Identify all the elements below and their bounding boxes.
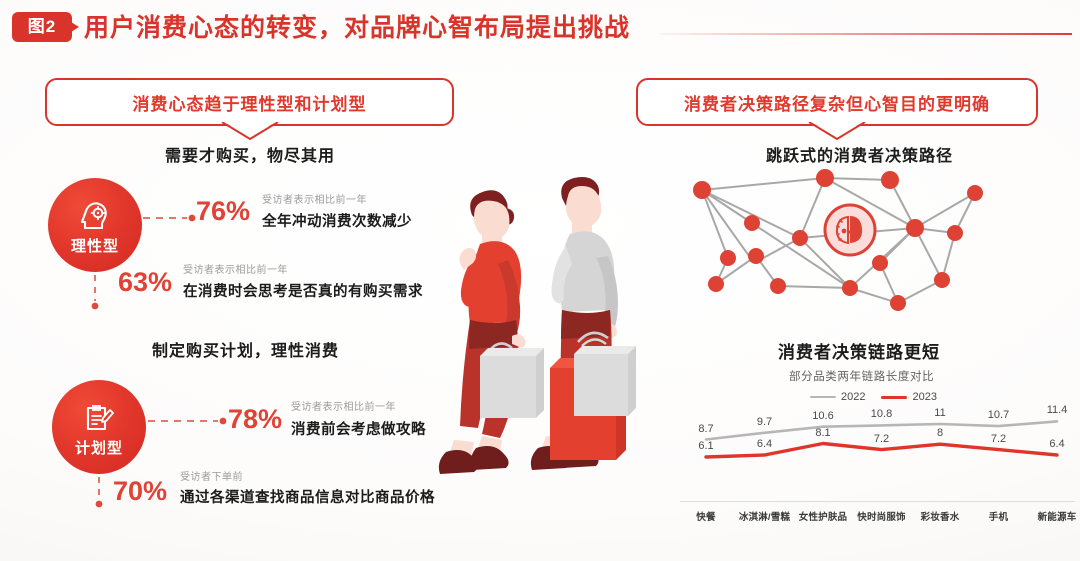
left-panel-callout: 消费心态趋于理性型和计划型 bbox=[45, 78, 454, 126]
stat-value-76: 76% bbox=[196, 198, 250, 225]
chart-axis-line bbox=[680, 501, 1075, 502]
left-panel-callout-label: 消费心态趋于理性型和计划型 bbox=[133, 90, 367, 115]
callout-notch-right bbox=[807, 122, 867, 142]
data-label-2023-0: 6.1 bbox=[698, 440, 713, 452]
chart-category-labels: 快餐冰淇淋/雪糕女性护肤品快时尚服饰彩妆香水手机新能源车 bbox=[680, 505, 1075, 527]
callout-notch bbox=[220, 122, 280, 142]
data-label-2022-1: 9.7 bbox=[757, 416, 772, 428]
connector-dashed-78 bbox=[148, 416, 232, 426]
data-label-2022-5: 10.7 bbox=[988, 409, 1009, 421]
data-label-2023-2: 8.1 bbox=[815, 427, 830, 439]
planned-type-circle: 计划型 bbox=[52, 380, 146, 474]
decision-path-network bbox=[690, 168, 1040, 313]
category-label-4: 彩妆香水 bbox=[921, 509, 960, 523]
chart-legend: 2022 2023 bbox=[810, 391, 937, 403]
planned-type-label: 计划型 bbox=[75, 441, 123, 456]
man-figure bbox=[531, 177, 636, 470]
figure-badge-label: 图2 bbox=[28, 18, 56, 36]
stat-value-78: 78% bbox=[228, 406, 282, 433]
legend-label-2022: 2022 bbox=[841, 391, 865, 403]
title-divider bbox=[660, 33, 1072, 35]
header: 图2 用户消费心态的转变，对品牌心智布局提出挑战 bbox=[0, 0, 1080, 58]
legend-swatch-2023 bbox=[881, 396, 907, 399]
data-label-2022-4: 11 bbox=[934, 407, 945, 419]
stat-caption-78: 受访者表示相比前一年 bbox=[291, 398, 396, 413]
stat-text-76: 全年冲动消费次数减少 bbox=[262, 210, 412, 231]
data-label-2022-2: 10.6 bbox=[812, 410, 833, 422]
connector-dashed-70 bbox=[94, 477, 104, 523]
head-gear-icon bbox=[75, 197, 115, 237]
page-title: 用户消费心态的转变，对品牌心智布局提出挑战 bbox=[84, 8, 630, 44]
right-panel-callout-label: 消费者决策路径复杂但心智目的更明确 bbox=[684, 90, 990, 115]
category-label-6: 新能源车 bbox=[1038, 509, 1077, 523]
stat-text-63: 在消费时会思考是否真的有购买需求 bbox=[183, 280, 423, 301]
category-label-0: 快餐 bbox=[696, 509, 715, 523]
stat-caption-63: 受访者表示相比前一年 bbox=[183, 261, 288, 276]
legend-label-2023: 2023 bbox=[912, 391, 936, 403]
data-label-2022-0: 8.7 bbox=[698, 423, 713, 435]
category-label-1: 冰淇淋/雪糕 bbox=[739, 509, 790, 523]
stat-caption-70: 受访者下单前 bbox=[180, 468, 243, 483]
legend-swatch-2022 bbox=[810, 396, 836, 398]
left-section-1-heading: 需要才购买，物尽其用 bbox=[165, 142, 335, 166]
network-heading: 跳跃式的消费者决策路径 bbox=[766, 142, 953, 166]
chart-subtitle: 部分品类两年链路长度对比 bbox=[789, 368, 934, 384]
data-label-2023-1: 6.4 bbox=[757, 438, 772, 450]
stat-text-70: 通过各渠道查找商品信息对比商品价格 bbox=[180, 486, 435, 507]
stat-value-70: 70% bbox=[113, 478, 167, 505]
category-label-2: 女性护肤品 bbox=[799, 509, 848, 523]
clipboard-pencil-icon bbox=[79, 399, 119, 439]
legend-item-2022: 2022 bbox=[810, 391, 865, 403]
category-label-5: 手机 bbox=[989, 509, 1008, 523]
brain-icon bbox=[825, 205, 875, 255]
stat-value-63: 63% bbox=[118, 269, 172, 296]
rational-type-circle: 理性型 bbox=[48, 178, 142, 272]
two-shoppers-illustration bbox=[420, 160, 670, 545]
legend-item-2023: 2023 bbox=[881, 391, 936, 403]
data-label-2023-4: 8 bbox=[937, 427, 943, 439]
stat-text-78: 消费前会考虑做攻略 bbox=[291, 418, 426, 439]
data-label-2023-3: 7.2 bbox=[874, 433, 889, 445]
stat-caption-76: 受访者表示相比前一年 bbox=[262, 191, 367, 206]
left-section-2-heading: 制定购买计划，理性消费 bbox=[152, 337, 339, 361]
figure-badge: 图2 bbox=[12, 12, 72, 42]
connector-dashed-63 bbox=[90, 275, 100, 321]
rational-type-label: 理性型 bbox=[71, 239, 119, 254]
data-label-2023-5: 7.2 bbox=[991, 433, 1006, 445]
data-label-2022-3: 10.8 bbox=[871, 408, 892, 420]
connector-dashed-76 bbox=[143, 213, 199, 223]
category-label-3: 快时尚服饰 bbox=[857, 509, 906, 523]
chart-title: 消费者决策链路更短 bbox=[778, 338, 940, 363]
data-label-2022-6: 11.4 bbox=[1047, 404, 1068, 416]
infographic-page: 图2 用户消费心态的转变，对品牌心智布局提出挑战 消费心态趋于理性型和计划型 需… bbox=[0, 0, 1080, 561]
woman-figure bbox=[439, 190, 544, 474]
data-label-2023-6: 6.4 bbox=[1049, 438, 1064, 450]
right-panel-callout: 消费者决策路径复杂但心智目的更明确 bbox=[636, 78, 1038, 126]
